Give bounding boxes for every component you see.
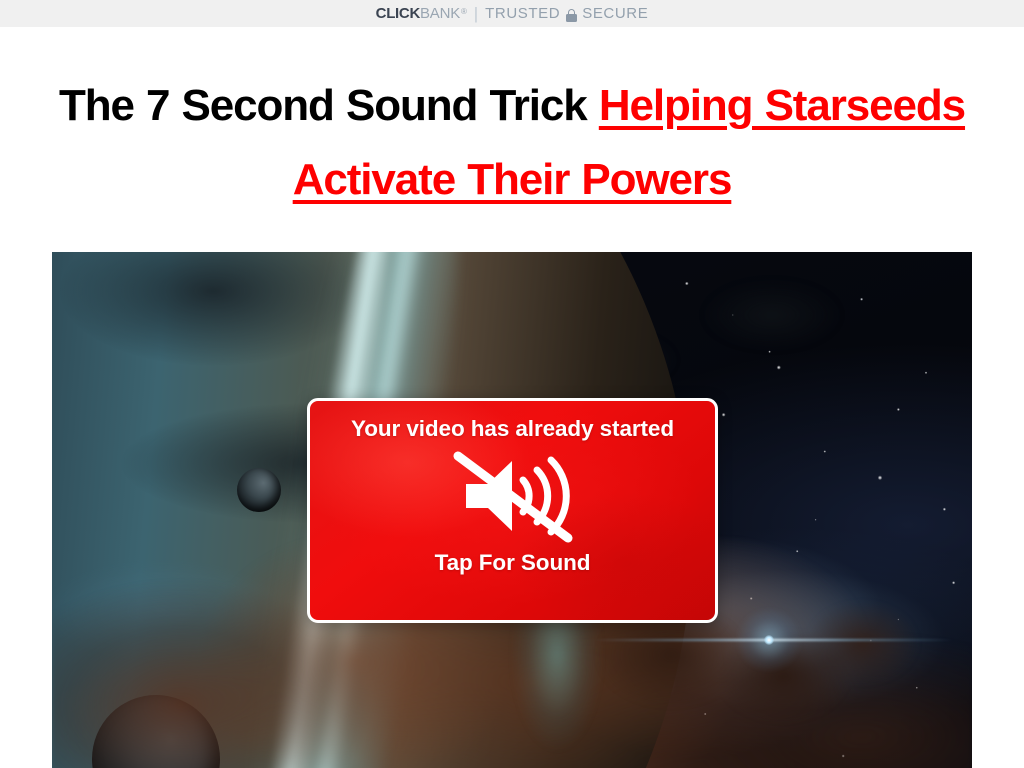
- moon-small: [237, 468, 281, 512]
- clickbank-logo-click: CLICK: [376, 5, 420, 22]
- trusted-label: TRUSTED: [485, 5, 560, 22]
- video-player[interactable]: Your video has already started Tap For S…: [52, 252, 972, 768]
- headline-black-text: The 7 Second Sound Trick: [59, 81, 599, 130]
- video-started-message: Your video has already started: [351, 416, 674, 442]
- trust-bar-separator: |: [474, 4, 478, 24]
- dust-cloud-right: [672, 260, 872, 370]
- clickbank-trust-bar: CLICKBANK® | TRUSTED SECURE: [0, 0, 1024, 27]
- secure-label: SECURE: [582, 5, 648, 22]
- lock-icon: [566, 9, 577, 22]
- clickbank-logo-bank: BANK: [420, 5, 460, 22]
- page-title: The 7 Second Sound Trick Helping Starsee…: [40, 69, 984, 217]
- tap-for-sound-overlay[interactable]: Your video has already started Tap For S…: [307, 398, 718, 623]
- lens-flare-star: [764, 635, 774, 645]
- headline-section: The 7 Second Sound Trick Helping Starsee…: [0, 27, 1024, 217]
- registered-trademark-icon: ®: [461, 7, 467, 16]
- clickbank-logo: CLICKBANK®: [376, 5, 467, 22]
- tap-for-sound-label[interactable]: Tap For Sound: [435, 550, 591, 576]
- muted-speaker-icon: [444, 448, 582, 544]
